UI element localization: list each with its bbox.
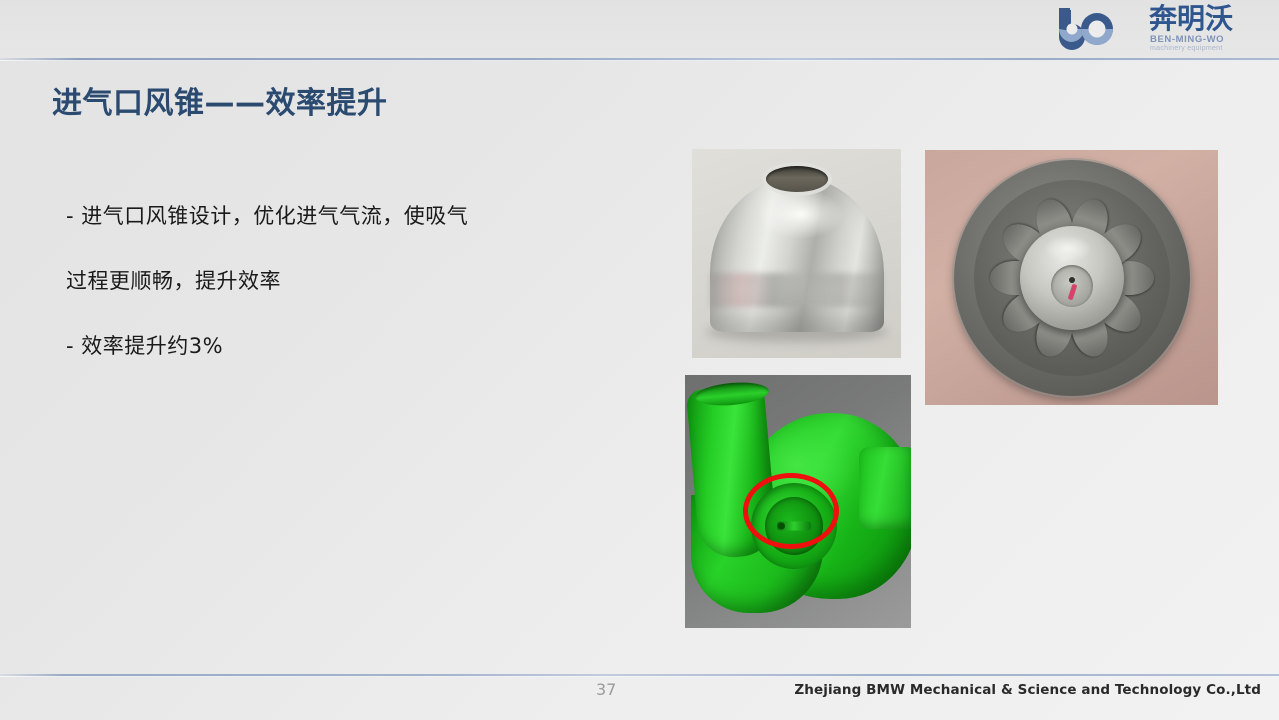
impeller-bore-hole — [1069, 277, 1075, 283]
inlet-cone-photo — [692, 149, 901, 358]
dome-threaded-bore — [766, 166, 828, 192]
company-logo: 奔明沃 BEN-MING-WO machinery equipment — [1055, 4, 1265, 56]
page-title: 进气口风锥——效率提升 — [52, 78, 388, 122]
blower-outlet-duct — [859, 447, 911, 529]
slide-canvas: 奔明沃 BEN-MING-WO machinery equipment 进气口风… — [0, 0, 1279, 720]
logo-english-name: BEN-MING-WO — [1150, 34, 1224, 45]
logo-tagline: machinery equipment — [1150, 45, 1223, 52]
logo-chinese-name: 奔明沃 — [1149, 4, 1233, 34]
dome-reflection-band — [710, 273, 884, 307]
body-line-3: - 效率提升约3% — [66, 314, 626, 379]
footer-divider-rule — [0, 674, 1279, 677]
header-divider-rule — [0, 58, 1279, 61]
page-number: 37 — [596, 680, 616, 699]
impeller-photo — [925, 150, 1218, 405]
red-highlight-ellipse — [743, 473, 839, 549]
impeller-inlet-cone-hub — [1020, 226, 1124, 330]
body-line-2: 过程更顺畅，提升效率 — [66, 249, 626, 314]
cad-render-photo — [685, 375, 911, 628]
body-line-1: - 进气口风锥设计，优化进气气流，使吸气 — [66, 184, 626, 249]
footer-company-name: Zhejiang BMW Mechanical & Science and Te… — [794, 682, 1261, 698]
logo-wordmark: 奔明沃 BEN-MING-WO machinery equipment — [1149, 4, 1265, 56]
body-text-block: - 进气口风锥设计，优化进气气流，使吸气 过程更顺畅，提升效率 - 效率提升约3… — [66, 184, 626, 379]
impeller-center-bore — [1051, 265, 1093, 307]
impeller-balance-mark — [1067, 284, 1077, 301]
bo-monogram-icon — [1055, 6, 1147, 52]
